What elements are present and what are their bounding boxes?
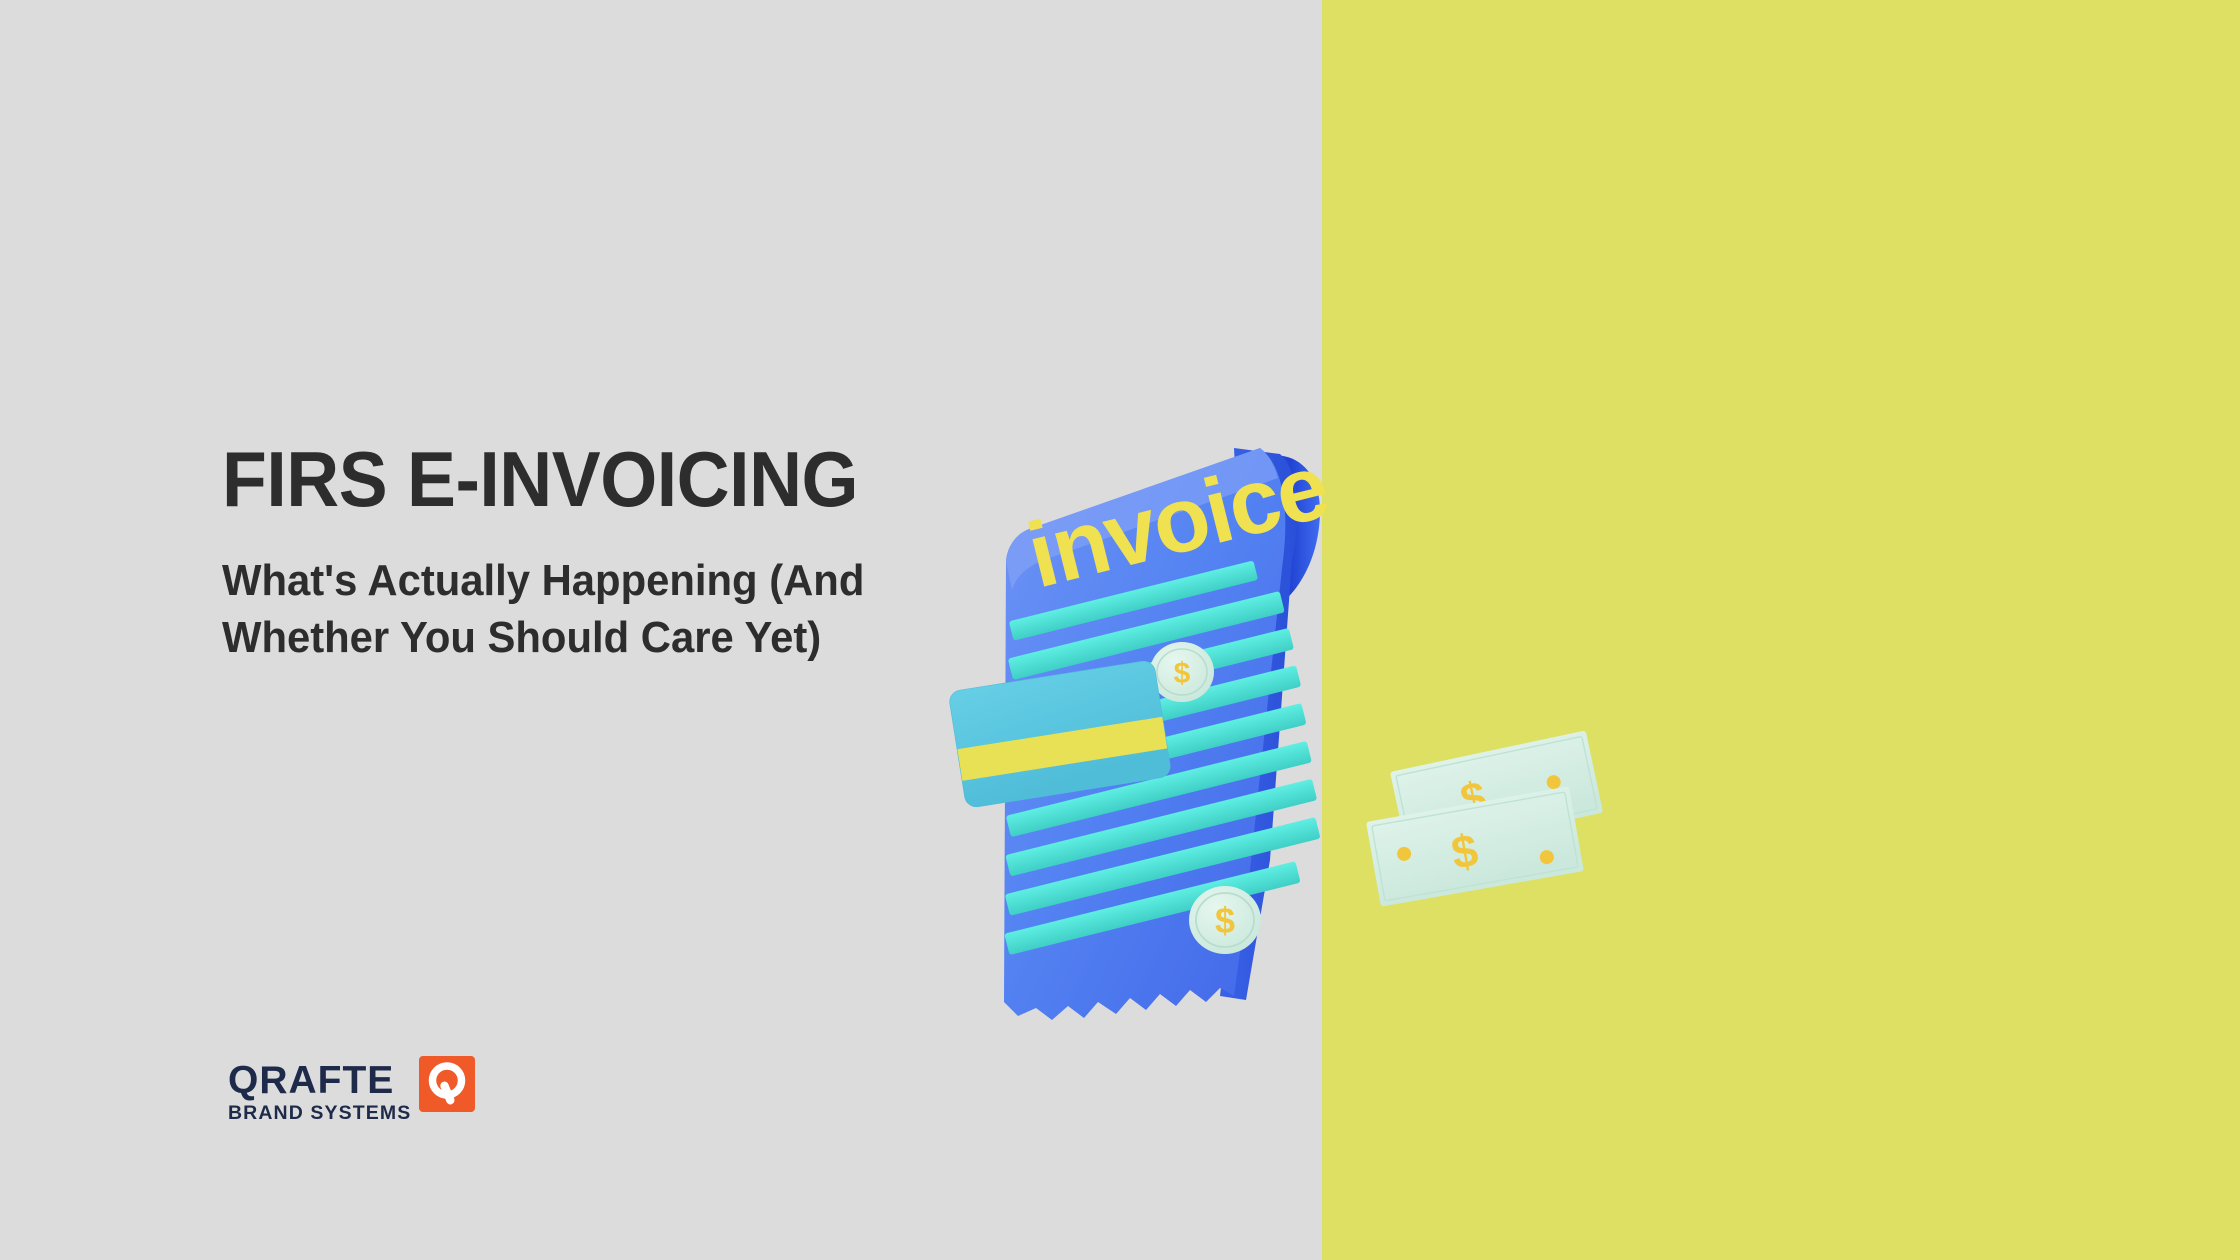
brand-tagline: BRAND SYSTEMS — [228, 1100, 411, 1126]
coin-currency-symbol: $ — [1174, 657, 1191, 690]
brand-logo-wordmark: QRAFTE BRAND SYSTEMS — [228, 1058, 411, 1127]
page-title: FIRS E-INVOICING — [222, 440, 1049, 518]
coin: $ — [1150, 642, 1214, 702]
invoice-3d-illustration: invoice $ — [960, 430, 1740, 1130]
brand-name: QRAFTE — [228, 1062, 411, 1100]
qrafte-q-mark-icon — [419, 1056, 475, 1112]
poster-canvas: FIRS E-INVOICING What's Actually Happeni… — [0, 0, 2240, 1260]
brand-logo[interactable]: QRAFTE BRAND SYSTEMS — [228, 1058, 475, 1127]
coin-currency-symbol: $ — [1215, 900, 1235, 941]
page-subtitle: What's Actually Happening (And Whether Y… — [222, 552, 1020, 666]
coin: $ — [1189, 886, 1261, 954]
